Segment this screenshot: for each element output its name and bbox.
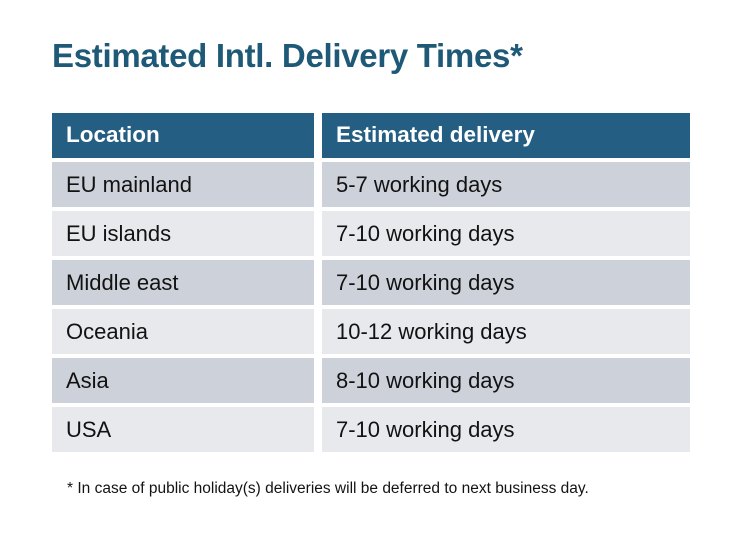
- delivery-times-table: Location Estimated delivery EU mainland …: [52, 113, 690, 452]
- cell-delivery: 5-7 working days: [322, 162, 690, 207]
- table-row: Middle east 7-10 working days: [52, 260, 690, 305]
- cell-delivery: 8-10 working days: [322, 358, 690, 403]
- table-row: Oceania 10-12 working days: [52, 309, 690, 354]
- column-header-location: Location: [52, 113, 314, 158]
- cell-location: Asia: [52, 358, 314, 403]
- page-title: Estimated Intl. Delivery Times*: [52, 35, 523, 77]
- delivery-times-page: Estimated Intl. Delivery Times* Location…: [0, 0, 745, 536]
- cell-location: EU islands: [52, 211, 314, 256]
- footnote-text: * In case of public holiday(s) deliverie…: [67, 479, 589, 499]
- table-row: USA 7-10 working days: [52, 407, 690, 452]
- table-row: Asia 8-10 working days: [52, 358, 690, 403]
- cell-delivery: 7-10 working days: [322, 407, 690, 452]
- table-header-row: Location Estimated delivery: [52, 113, 690, 158]
- cell-delivery: 10-12 working days: [322, 309, 690, 354]
- cell-delivery: 7-10 working days: [322, 260, 690, 305]
- cell-location: Oceania: [52, 309, 314, 354]
- cell-location: Middle east: [52, 260, 314, 305]
- column-header-estimated-delivery: Estimated delivery: [322, 113, 690, 158]
- table-row: EU islands 7-10 working days: [52, 211, 690, 256]
- cell-location: USA: [52, 407, 314, 452]
- cell-location: EU mainland: [52, 162, 314, 207]
- cell-delivery: 7-10 working days: [322, 211, 690, 256]
- table-row: EU mainland 5-7 working days: [52, 162, 690, 207]
